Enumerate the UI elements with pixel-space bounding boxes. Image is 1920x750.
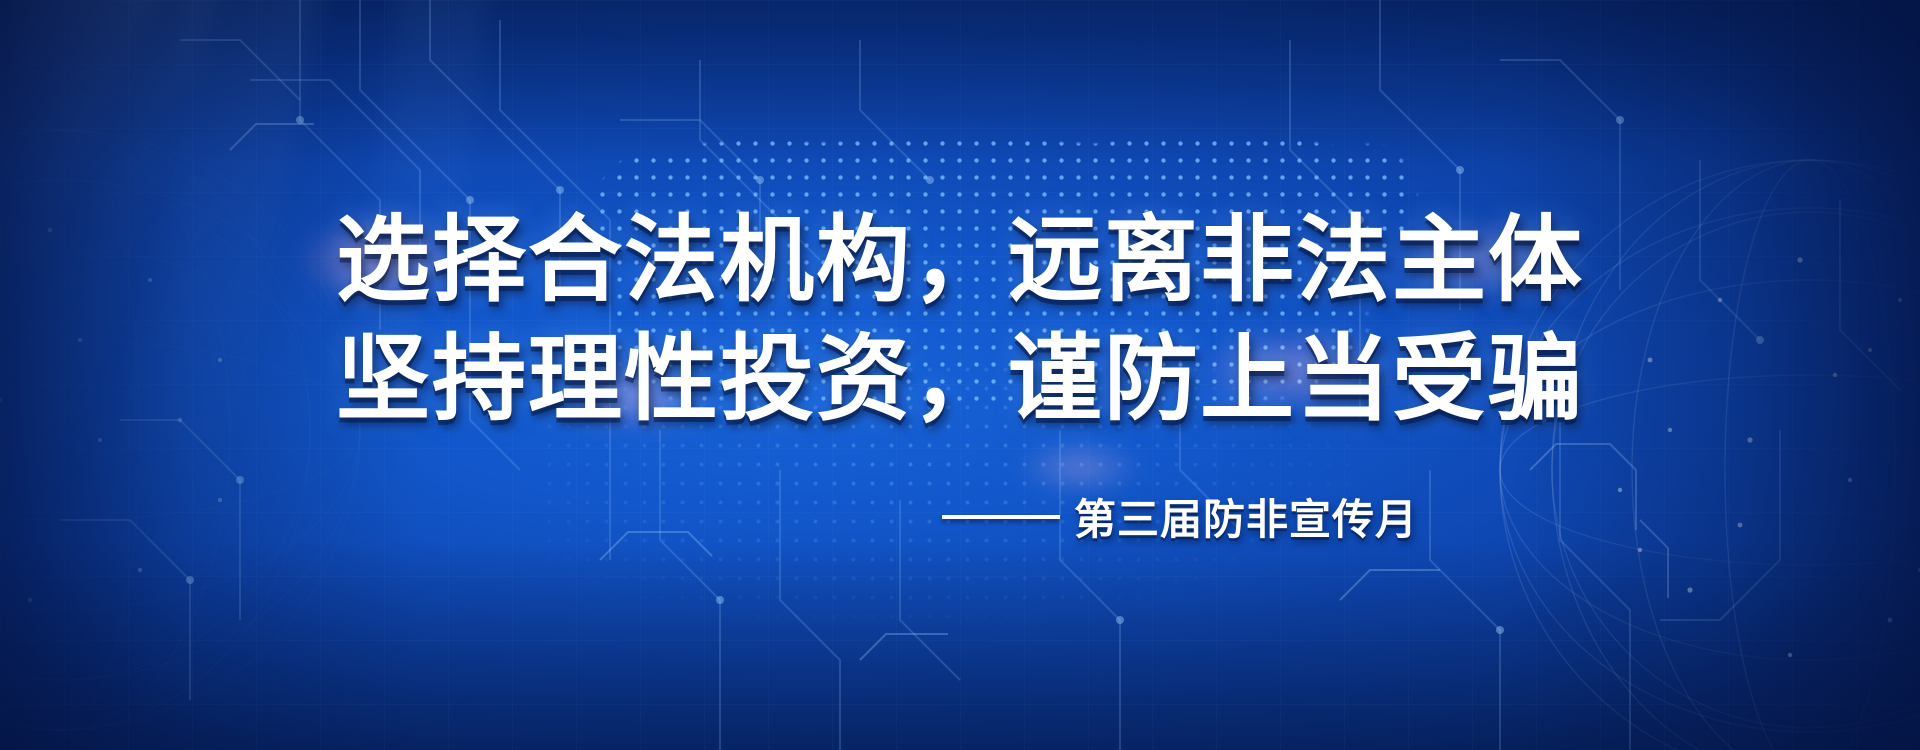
- banner-content: 选择合法机构，远离非法主体 坚持理性投资，谨防上当受骗 第三届防非宣传月: [0, 0, 1920, 750]
- subtitle-text: 第三届防非宣传月: [1074, 486, 1418, 547]
- promo-banner: 选择合法机构，远离非法主体 坚持理性投资，谨防上当受骗 第三届防非宣传月: [0, 0, 1920, 750]
- headline-line-1: 选择合法机构，远离非法主体: [336, 203, 1584, 320]
- subtitle-row: 第三届防非宣传月: [942, 486, 1418, 547]
- subtitle-dash-icon: [942, 515, 1060, 519]
- headline-line-2: 坚持理性投资，谨防上当受骗: [336, 322, 1584, 439]
